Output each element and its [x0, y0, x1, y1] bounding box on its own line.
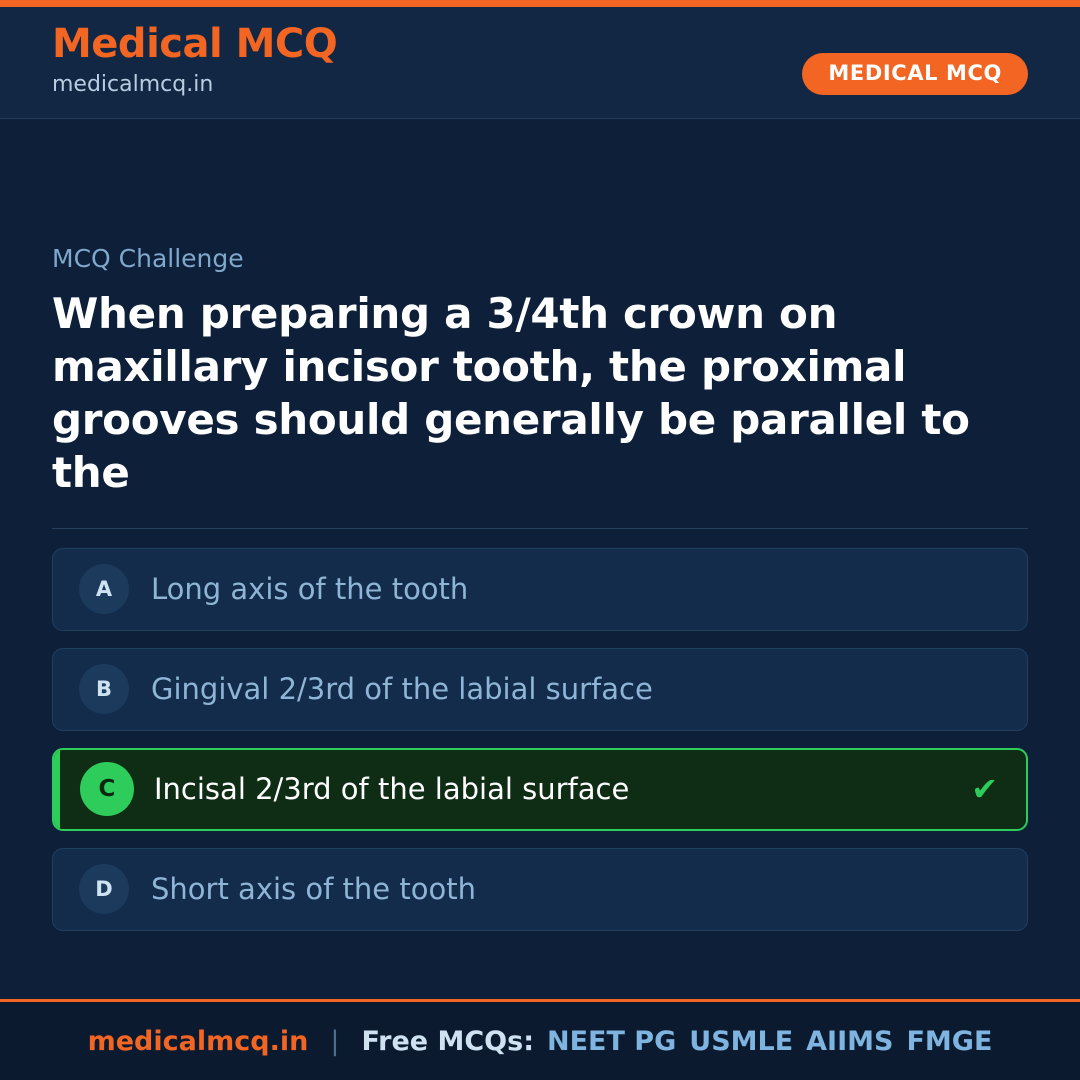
top-accent-bar — [0, 0, 1080, 7]
option-text-d: Short axis of the tooth — [151, 872, 476, 907]
section-eyebrow: MCQ Challenge — [52, 244, 1028, 274]
question-text: When preparing a 3/4th crown on maxillar… — [52, 288, 1028, 500]
option-letter-c: C — [80, 762, 134, 816]
footer-separator: | — [308, 1026, 361, 1057]
option-letter-d: D — [79, 864, 129, 914]
footer-exam-aiims: AIIMS — [793, 1026, 893, 1057]
option-row-a[interactable]: A Long axis of the tooth — [52, 548, 1028, 631]
options-list: A Long axis of the tooth B Gingival 2/3r… — [52, 548, 1028, 931]
main-content: MCQ Challenge When preparing a 3/4th cro… — [0, 119, 1080, 999]
footer-exam-fmge: FMGE — [893, 1026, 992, 1057]
option-row-d[interactable]: D Short axis of the tooth — [52, 848, 1028, 931]
option-text-b: Gingival 2/3rd of the labial surface — [151, 672, 653, 707]
check-icon: ✔ — [971, 773, 998, 805]
option-text-c: Incisal 2/3rd of the labial surface — [154, 772, 629, 807]
brand-subtitle: medicalmcq.in — [52, 67, 337, 102]
option-row-c[interactable]: C Incisal 2/3rd of the labial surface ✔ — [52, 748, 1028, 831]
brand-title: Medical MCQ — [52, 23, 337, 65]
option-text-a: Long axis of the tooth — [151, 572, 468, 607]
option-row-b[interactable]: B Gingival 2/3rd of the labial surface — [52, 648, 1028, 731]
option-letter-a: A — [79, 564, 129, 614]
footer-site: medicalmcq.in — [88, 1026, 309, 1057]
footer-exam-neetpg: NEET PG — [534, 1026, 676, 1057]
footer-label: Free MCQs: — [361, 1026, 534, 1057]
header-badge: MEDICAL MCQ — [802, 53, 1028, 95]
page-header: Medical MCQ medicalmcq.in MEDICAL MCQ — [0, 7, 1080, 119]
option-letter-b: B — [79, 664, 129, 714]
question-divider — [52, 528, 1028, 529]
footer-exam-usmle: USMLE — [676, 1026, 793, 1057]
footer-content: medicalmcq.in | Free MCQs: NEET PG USMLE… — [88, 1026, 993, 1057]
mcq-card: Medical MCQ medicalmcq.in MEDICAL MCQ MC… — [0, 0, 1080, 1080]
page-footer: medicalmcq.in | Free MCQs: NEET PG USMLE… — [0, 999, 1080, 1080]
brand: Medical MCQ medicalmcq.in — [52, 23, 337, 102]
